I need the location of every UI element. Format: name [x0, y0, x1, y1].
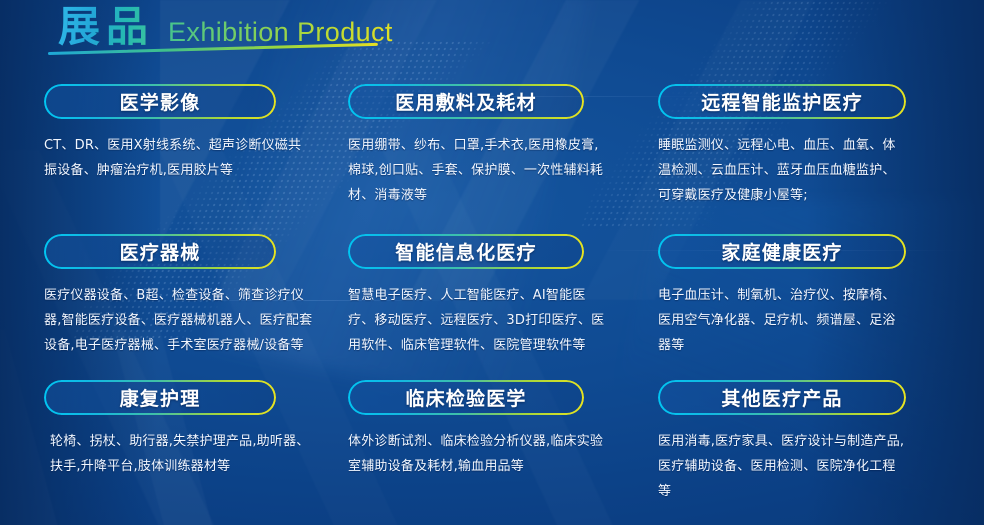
category-title-pill[interactable]: 远程智能监护医疗 — [658, 84, 906, 119]
category-description: 医用绷带、纱布、口罩,手术衣,医用橡皮膏,棉球,创口贴、手套、保护膜、一次性辅料… — [348, 133, 610, 208]
category-title-pill[interactable]: 智能信息化医疗 — [348, 234, 584, 269]
category-title-label: 康复护理 — [120, 384, 201, 411]
category-description: 睡眠监测仪、远程心电、血压、血氧、体温检测、云血压计、蓝牙血压血糖监护、可穿戴医… — [658, 133, 908, 208]
category-title-label: 其他医疗产品 — [721, 384, 842, 411]
category-title-pill[interactable]: 其他医疗产品 — [658, 380, 906, 415]
category-description: 医疗仪器设备、B超、检查设备、筛查诊疗仪器,智能医疗设备、医疗器械机器人、医疗配… — [44, 283, 314, 358]
category-card[interactable]: 远程智能监护医疗 睡眠监测仪、远程心电、血压、血氧、体温检测、云血压计、蓝牙血压… — [642, 84, 984, 232]
category-card[interactable]: 其他医疗产品 医用消毒,医疗家具、医疗设计与制造产品,医疗辅助设备、医用检测、医… — [642, 378, 984, 525]
category-title-pill[interactable]: 医学影像 — [44, 84, 276, 119]
category-title-label: 医用敷料及耗材 — [395, 88, 536, 115]
category-title-label: 临床检验医学 — [405, 384, 526, 411]
category-title-label: 医疗器械 — [120, 238, 201, 265]
category-card[interactable]: 医疗器械 医疗仪器设备、B超、检查设备、筛查诊疗仪器,智能医疗设备、医疗器械机器… — [0, 232, 330, 378]
exhibition-category-grid: 医学影像 CT、DR、医用X射线系统、超声诊断仪磁共振设备、肿瘤治疗机,医用胶片… — [0, 84, 984, 525]
page-title-chinese: 展品 — [58, 6, 154, 48]
category-title-label: 家庭健康医疗 — [721, 238, 842, 265]
category-title-pill[interactable]: 临床检验医学 — [348, 380, 584, 415]
category-description: 智慧电子医疗、人工智能医疗、AI智能医疗、移动医疗、远程医疗、3D打印医疗、医用… — [348, 283, 610, 358]
category-title-label: 医学影像 — [120, 88, 201, 115]
category-description: 体外诊断试剂、临床检验分析仪器,临床实验室辅助设备及耗材,输血用品等 — [348, 429, 610, 479]
category-card[interactable]: 家庭健康医疗 电子血压计、制氧机、治疗仪、按摩椅、医用空气净化器、足疗机、频谱屋… — [642, 232, 984, 378]
category-description: 轮椅、拐杖、助行器,失禁护理产品,助听器、扶手,升降平台,肢体训练器材等 — [44, 429, 314, 479]
page-title: 展品 Exhibition Product — [58, 6, 393, 48]
category-title-pill[interactable]: 医疗器械 — [44, 234, 276, 269]
category-card[interactable]: 医学影像 CT、DR、医用X射线系统、超声诊断仪磁共振设备、肿瘤治疗机,医用胶片… — [0, 84, 330, 232]
category-description: 电子血压计、制氧机、治疗仪、按摩椅、医用空气净化器、足疗机、频谱屋、足浴器等 — [658, 283, 908, 358]
category-title-pill[interactable]: 家庭健康医疗 — [658, 234, 906, 269]
category-card[interactable]: 智能信息化医疗 智慧电子医疗、人工智能医疗、AI智能医疗、移动医疗、远程医疗、3… — [330, 232, 642, 378]
category-description: CT、DR、医用X射线系统、超声诊断仪磁共振设备、肿瘤治疗机,医用胶片等 — [44, 133, 314, 183]
category-title-label: 智能信息化医疗 — [395, 238, 536, 265]
category-card[interactable]: 康复护理 轮椅、拐杖、助行器,失禁护理产品,助听器、扶手,升降平台,肢体训练器材… — [0, 378, 330, 525]
category-card[interactable]: 医用敷料及耗材 医用绷带、纱布、口罩,手术衣,医用橡皮膏,棉球,创口贴、手套、保… — [330, 84, 642, 232]
category-title-pill[interactable]: 康复护理 — [44, 380, 276, 415]
category-description: 医用消毒,医疗家具、医疗设计与制造产品,医疗辅助设备、医用检测、医院净化工程等 — [658, 429, 908, 504]
category-title-label: 远程智能监护医疗 — [701, 88, 863, 115]
page-header: 展品 Exhibition Product — [0, 0, 984, 78]
category-title-pill[interactable]: 医用敷料及耗材 — [348, 84, 584, 119]
page-title-english: Exhibition Product — [168, 19, 393, 46]
category-card[interactable]: 临床检验医学 体外诊断试剂、临床检验分析仪器,临床实验室辅助设备及耗材,输血用品… — [330, 378, 642, 525]
